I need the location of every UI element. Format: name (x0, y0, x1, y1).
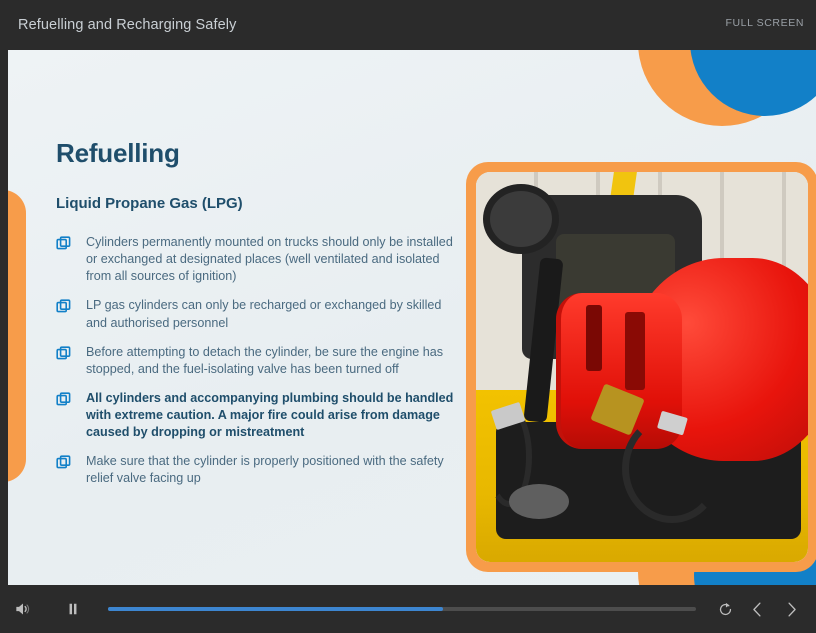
replay-icon[interactable] (710, 592, 740, 626)
bullet-list: Cylinders permanently mounted on trucks … (56, 234, 456, 488)
course-player: Refuelling and Recharging Safely FULL SC… (0, 0, 816, 633)
copy-icon (56, 236, 72, 252)
list-item-label: LP gas cylinders can only be recharged o… (86, 297, 456, 331)
slide-heading: Refuelling (56, 138, 456, 169)
fullscreen-button[interactable]: FULL SCREEN (725, 17, 804, 29)
photo-pedal (509, 484, 569, 519)
photo-steering-wheel (483, 184, 559, 254)
list-item-label: Cylinders permanently mounted on trucks … (86, 234, 456, 285)
copy-icon (56, 346, 72, 362)
photo-collar-slot (586, 305, 603, 371)
list-item: Make sure that the cylinder is properly … (56, 453, 456, 487)
progress-track[interactable] (108, 607, 696, 611)
copy-icon (56, 299, 72, 315)
progress-bar[interactable] (108, 592, 696, 626)
chevron-right-icon[interactable] (774, 592, 808, 626)
slide-image (476, 172, 808, 562)
list-item-label: All cylinders and accompanying plumbing … (86, 390, 456, 441)
course-title: Refuelling and Recharging Safely (18, 17, 236, 33)
player-control-bar (0, 585, 816, 633)
list-item: Before attempting to detach the cylinder… (56, 344, 456, 378)
list-item-label: Before attempting to detach the cylinder… (86, 344, 456, 378)
slide-canvas: Refuelling Liquid Propane Gas (LPG) Cyli… (8, 50, 816, 585)
copy-icon (56, 455, 72, 471)
volume-icon[interactable] (6, 592, 40, 626)
decorative-pill-orange-left (8, 190, 26, 482)
photo-collar-slot (625, 312, 645, 390)
list-item: All cylinders and accompanying plumbing … (56, 390, 456, 441)
list-item-label: Make sure that the cylinder is properly … (86, 453, 456, 487)
player-top-bar: Refuelling and Recharging Safely FULL SC… (0, 0, 816, 50)
progress-fill (108, 607, 443, 611)
list-item: LP gas cylinders can only be recharged o… (56, 297, 456, 331)
slide-subheading: Liquid Propane Gas (LPG) (56, 195, 456, 212)
list-item: Cylinders permanently mounted on trucks … (56, 234, 456, 285)
copy-icon (56, 392, 72, 408)
pause-icon[interactable] (56, 592, 90, 626)
slide-text-content: Refuelling Liquid Propane Gas (LPG) Cyli… (56, 138, 456, 500)
slide-image-frame (466, 162, 816, 572)
chevron-left-icon[interactable] (740, 592, 774, 626)
